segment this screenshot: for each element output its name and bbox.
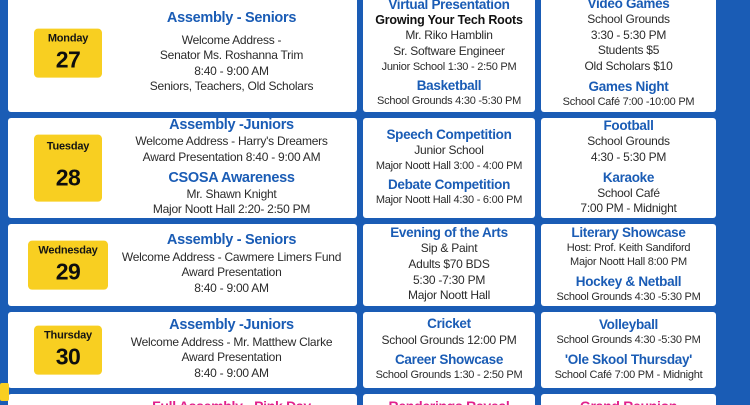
event-line: Major Noott Hall 3:00 - 4:00 PM xyxy=(367,159,531,173)
day-events-tuesday: Assembly -Juniors Welcome Address - Harr… xyxy=(116,118,353,218)
event-title: Assembly - Seniors xyxy=(116,10,347,27)
event-line: 4:30 - 5:30 PM xyxy=(545,150,712,166)
event-line: 5:30 -7:30 PM xyxy=(367,273,531,289)
evening-cell-monday[interactable]: Video Games School Grounds 3:30 - 5:30 P… xyxy=(541,0,716,112)
event-line: Welcome Address - Mr. Matthew Clarke xyxy=(116,335,347,351)
event-line: 7:00 PM - Midnight xyxy=(545,201,712,217)
day-badge-tuesday: Tuesday 28 xyxy=(34,135,102,202)
event-title: Grand Reunion xyxy=(580,398,677,405)
event-line: 8:40 - 9:00 AM xyxy=(116,366,347,382)
event-karaoke[interactable]: Karaoke School Café 7:00 PM - Midnight xyxy=(545,170,712,217)
event-line: Sip & Paint xyxy=(367,241,531,257)
event-cricket[interactable]: Cricket School Grounds 12:00 PM xyxy=(367,316,531,348)
event-speech-competition[interactable]: Speech Competition Junior School Major N… xyxy=(367,127,531,173)
event-line: Welcome Address - Harry's Dreamers xyxy=(116,134,347,150)
event-line: Host: Prof. Keith Sandiford xyxy=(545,241,712,255)
day-number: 29 xyxy=(30,259,106,283)
event-title: Speech Competition xyxy=(367,127,531,143)
day-number: 27 xyxy=(36,47,100,71)
event-subtitle: Growing Your Tech Roots xyxy=(367,13,531,29)
day-badge-monday: Monday 27 xyxy=(34,29,102,78)
evening-cell-partial[interactable]: Grand Reunion xyxy=(541,394,716,405)
event-line: 3:30 - 5:30 PM xyxy=(545,28,712,44)
event-line: Mr. Shawn Knight xyxy=(116,187,347,203)
event-hockey-netball[interactable]: Hockey & Netball School Grounds 4:30 -5:… xyxy=(545,274,712,304)
day-cell-tuesday[interactable]: Tuesday 28 Assembly -Juniors Welcome Add… xyxy=(8,118,357,218)
event-title: Assembly - Seniors xyxy=(116,232,347,249)
event-line: School Grounds 1:30 - 2:50 PM xyxy=(367,368,531,382)
event-title: Hockey & Netball xyxy=(545,274,712,290)
day-cell-wednesday[interactable]: Wednesday 29 Assembly - Seniors Welcome … xyxy=(8,224,357,306)
event-line: Students $5 xyxy=(545,43,712,59)
event-ole-skool-thursday[interactable]: 'Ole Skool Thursday' School Café 7:00 PM… xyxy=(545,352,712,382)
event-title: Karaoke xyxy=(545,170,712,186)
event-title: Cricket xyxy=(367,316,531,332)
day-badge-thursday: Thursday 30 xyxy=(34,326,102,375)
event-title: 'Ole Skool Thursday' xyxy=(545,352,712,368)
event-title: Career Showcase xyxy=(367,352,531,368)
event-line: School Café 7:00 PM - Midnight xyxy=(545,368,712,382)
event-title: Volleyball xyxy=(545,317,712,333)
event-career-showcase[interactable]: Career Showcase School Grounds 1:30 - 2:… xyxy=(367,352,531,382)
event-assembly-juniors[interactable]: Assembly -Juniors Welcome Address - Mr. … xyxy=(116,317,347,381)
event-title: Literary Showcase xyxy=(545,225,712,241)
day-events-partial: Full Assembly - Pink Day xyxy=(152,398,317,405)
event-line: School Grounds 4:30 -5:30 PM xyxy=(367,94,531,108)
midday-cell-partial[interactable]: Renderings Reveal xyxy=(363,394,535,405)
event-line: Major Noott Hall 2:20- 2:50 PM xyxy=(116,202,347,218)
midday-cell-wednesday[interactable]: Evening of the Arts Sip & Paint Adults $… xyxy=(363,224,535,306)
event-line: School Grounds xyxy=(545,12,712,28)
event-line: School Grounds 4:30 -5:30 PM xyxy=(545,333,712,347)
event-line: Welcome Address - xyxy=(116,33,347,49)
left-blue-margin xyxy=(0,0,8,405)
event-literary-showcase[interactable]: Literary Showcase Host: Prof. Keith Sand… xyxy=(545,225,712,270)
event-title: Games Night xyxy=(545,79,712,95)
event-title: Football xyxy=(545,118,712,134)
schedule-row-wednesday: Wednesday 29 Assembly - Seniors Welcome … xyxy=(8,224,722,306)
event-line: Old Scholars $10 xyxy=(545,59,712,75)
day-events-thursday: Assembly -Juniors Welcome Address - Mr. … xyxy=(116,317,353,381)
event-assembly-seniors[interactable]: Assembly - Seniors Welcome Address - Caw… xyxy=(116,232,347,296)
event-line: Award Presentation xyxy=(116,350,347,366)
event-title: Debate Competition xyxy=(367,177,531,193)
event-volleyball[interactable]: Volleyball School Grounds 4:30 -5:30 PM xyxy=(545,317,712,347)
event-line: 8:40 - 9:00 AM xyxy=(116,281,347,297)
event-line: Award Presentation 8:40 - 9:00 AM xyxy=(116,150,347,166)
event-line: Major Noott Hall 8:00 PM xyxy=(545,255,712,269)
event-line: Adults $70 BDS xyxy=(367,257,531,273)
day-badge-wednesday: Wednesday 29 xyxy=(28,241,108,290)
event-evening-of-the-arts[interactable]: Evening of the Arts Sip & Paint Adults $… xyxy=(367,225,531,304)
right-blue-margin xyxy=(722,0,750,405)
event-title: Assembly -Juniors xyxy=(116,118,347,134)
day-name: Tuesday xyxy=(36,142,100,154)
day-events-wednesday: Assembly - Seniors Welcome Address - Caw… xyxy=(116,232,353,296)
event-title: Basketball xyxy=(367,78,531,94)
evening-cell-thursday[interactable]: Volleyball School Grounds 4:30 -5:30 PM … xyxy=(541,312,716,388)
schedule-row-partial: Full Assembly - Pink Day Renderings Reve… xyxy=(8,394,722,405)
day-number: 28 xyxy=(36,165,100,189)
day-number: 30 xyxy=(36,344,100,368)
event-line: Mr. Riko Hamblin xyxy=(367,28,531,44)
event-basketball[interactable]: Basketball School Grounds 4:30 -5:30 PM xyxy=(367,78,531,108)
event-line: Major Noott Hall xyxy=(367,288,531,304)
event-line: School Grounds 12:00 PM xyxy=(367,333,531,349)
schedule-row-tuesday: Tuesday 28 Assembly -Juniors Welcome Add… xyxy=(8,118,722,218)
event-line: Junior School 1:30 - 2:50 PM xyxy=(367,60,531,74)
event-line: Sr. Software Engineer xyxy=(367,44,531,60)
event-line: Junior School xyxy=(367,143,531,159)
event-title: CSOSA Awareness xyxy=(116,170,347,187)
event-line: Major Noott Hall 4:30 - 6:00 PM xyxy=(367,193,531,207)
day-name: Thursday xyxy=(36,331,100,343)
day-name: Monday xyxy=(36,34,100,46)
event-line: Award Presentation xyxy=(116,265,347,281)
schedule-grid: Monday 27 Assembly - Seniors Welcome Add… xyxy=(0,0,750,405)
event-line: School Grounds xyxy=(545,134,712,150)
schedule-row-monday: Monday 27 Assembly - Seniors Welcome Add… xyxy=(8,0,722,112)
midday-cell-thursday[interactable]: Cricket School Grounds 12:00 PM Career S… xyxy=(363,312,535,388)
event-line: Senator Ms. Roshanna Trim xyxy=(116,48,347,64)
event-title: Renderings Reveal xyxy=(389,398,510,405)
event-assembly-seniors[interactable]: Assembly - Seniors Welcome Address - Sen… xyxy=(116,10,347,95)
event-title: Evening of the Arts xyxy=(367,225,531,241)
day-cell-thursday[interactable]: Thursday 30 Assembly -Juniors Welcome Ad… xyxy=(8,312,357,388)
schedule-row-thursday: Thursday 30 Assembly -Juniors Welcome Ad… xyxy=(8,312,722,388)
event-line: Welcome Address - Cawmere Limers Fund xyxy=(116,250,347,266)
event-line: Seniors, Teachers, Old Scholars xyxy=(116,79,347,95)
schedule-rows: Monday 27 Assembly - Seniors Welcome Add… xyxy=(8,0,722,405)
event-debate-competition[interactable]: Debate Competition Major Noott Hall 4:30… xyxy=(367,177,531,207)
event-line: School Café 7:00 -10:00 PM xyxy=(545,95,712,109)
event-assembly-juniors[interactable]: Assembly -Juniors Welcome Address - Harr… xyxy=(116,118,347,166)
event-football[interactable]: Football School Grounds 4:30 - 5:30 PM xyxy=(545,118,712,165)
event-games-night[interactable]: Games Night School Café 7:00 -10:00 PM xyxy=(545,79,712,109)
event-line: School Grounds 4:30 -5:30 PM xyxy=(545,290,712,304)
day-name: Wednesday xyxy=(30,246,106,258)
event-title: Full Assembly - Pink Day xyxy=(152,398,311,405)
day-cell-monday[interactable]: Monday 27 Assembly - Seniors Welcome Add… xyxy=(8,0,357,112)
event-virtual-presentation[interactable]: Virtual Presentation Growing Your Tech R… xyxy=(367,0,531,74)
event-line: School Café xyxy=(545,186,712,202)
day-events-monday: Assembly - Seniors Welcome Address - Sen… xyxy=(116,10,353,95)
event-line: 8:40 - 9:00 AM xyxy=(116,64,347,80)
evening-cell-tuesday[interactable]: Football School Grounds 4:30 - 5:30 PM K… xyxy=(541,118,716,218)
event-title: Assembly -Juniors xyxy=(116,317,347,334)
day-cell-partial[interactable]: Full Assembly - Pink Day xyxy=(8,394,357,405)
event-title: Virtual Presentation xyxy=(367,0,531,13)
midday-cell-monday[interactable]: Virtual Presentation Growing Your Tech R… xyxy=(363,0,535,112)
evening-cell-wednesday[interactable]: Literary Showcase Host: Prof. Keith Sand… xyxy=(541,224,716,306)
event-video-games[interactable]: Video Games School Grounds 3:30 - 5:30 P… xyxy=(545,0,712,75)
event-title: Video Games xyxy=(545,0,712,12)
midday-cell-tuesday[interactable]: Speech Competition Junior School Major N… xyxy=(363,118,535,218)
next-day-badge-sliver xyxy=(0,383,9,401)
event-csosa-awareness[interactable]: CSOSA Awareness Mr. Shawn Knight Major N… xyxy=(116,170,347,219)
